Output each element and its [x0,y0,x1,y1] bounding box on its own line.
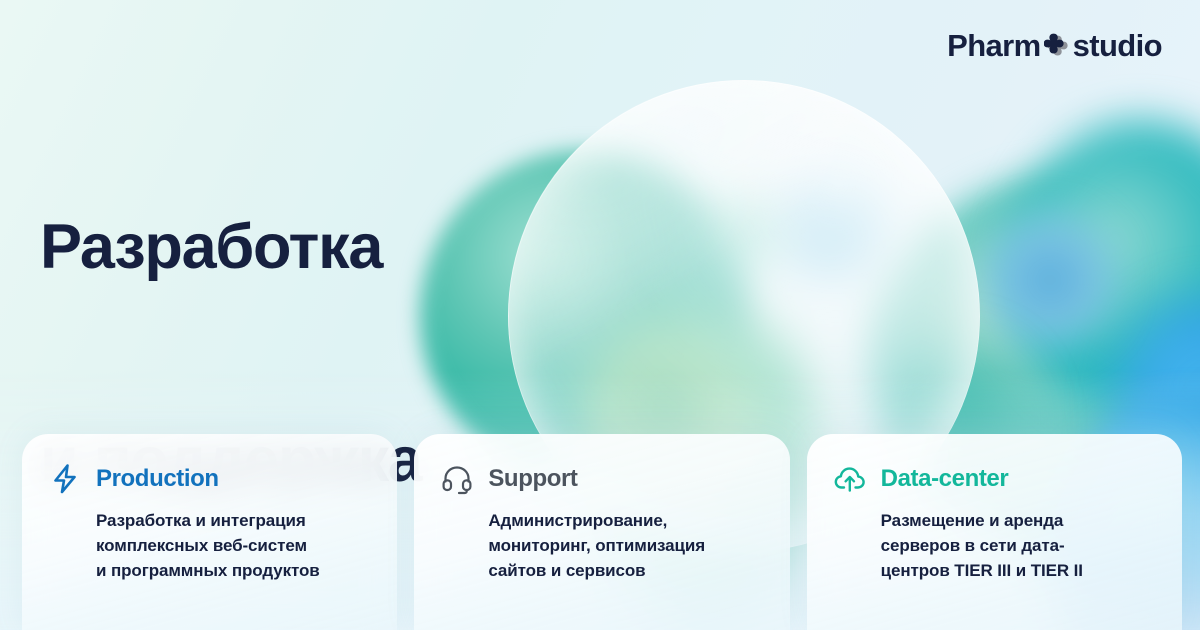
service-card-data-center[interactable]: Data-center Размещение и аренда серверов… [807,434,1182,630]
service-card-production[interactable]: Production Разработка и интеграция компл… [22,434,397,630]
card-header: Production [48,462,371,496]
brand-logo[interactable]: Pharm studio [947,30,1162,61]
medical-cross-icon [1044,31,1070,61]
card-description: Администрирование, мониторинг, оптимизац… [488,508,763,583]
service-card-support[interactable]: Support Администрирование, мониторинг, о… [414,434,789,630]
headline-line-1: Разработка [40,212,650,283]
card-title: Production [96,467,219,491]
cloud-upload-icon [833,462,867,496]
lightning-bolt-icon [48,462,82,496]
headset-icon [440,462,474,496]
brand-name-right: studio [1073,30,1162,61]
card-title: Data-center [881,467,1009,491]
card-title: Support [488,467,577,491]
brand-name-left: Pharm [947,30,1040,61]
promo-banner: Pharm studio Разработка и поддержка цифр… [0,0,1200,630]
card-header: Data-center [833,462,1156,496]
service-cards: Production Разработка и интеграция компл… [22,434,1182,630]
cyan-accent-two-decoration [985,215,1115,345]
card-header: Support [440,462,763,496]
card-description: Разработка и интеграция комплексных веб-… [96,508,371,583]
card-description: Размещение и аренда серверов в сети дата… [881,508,1156,583]
